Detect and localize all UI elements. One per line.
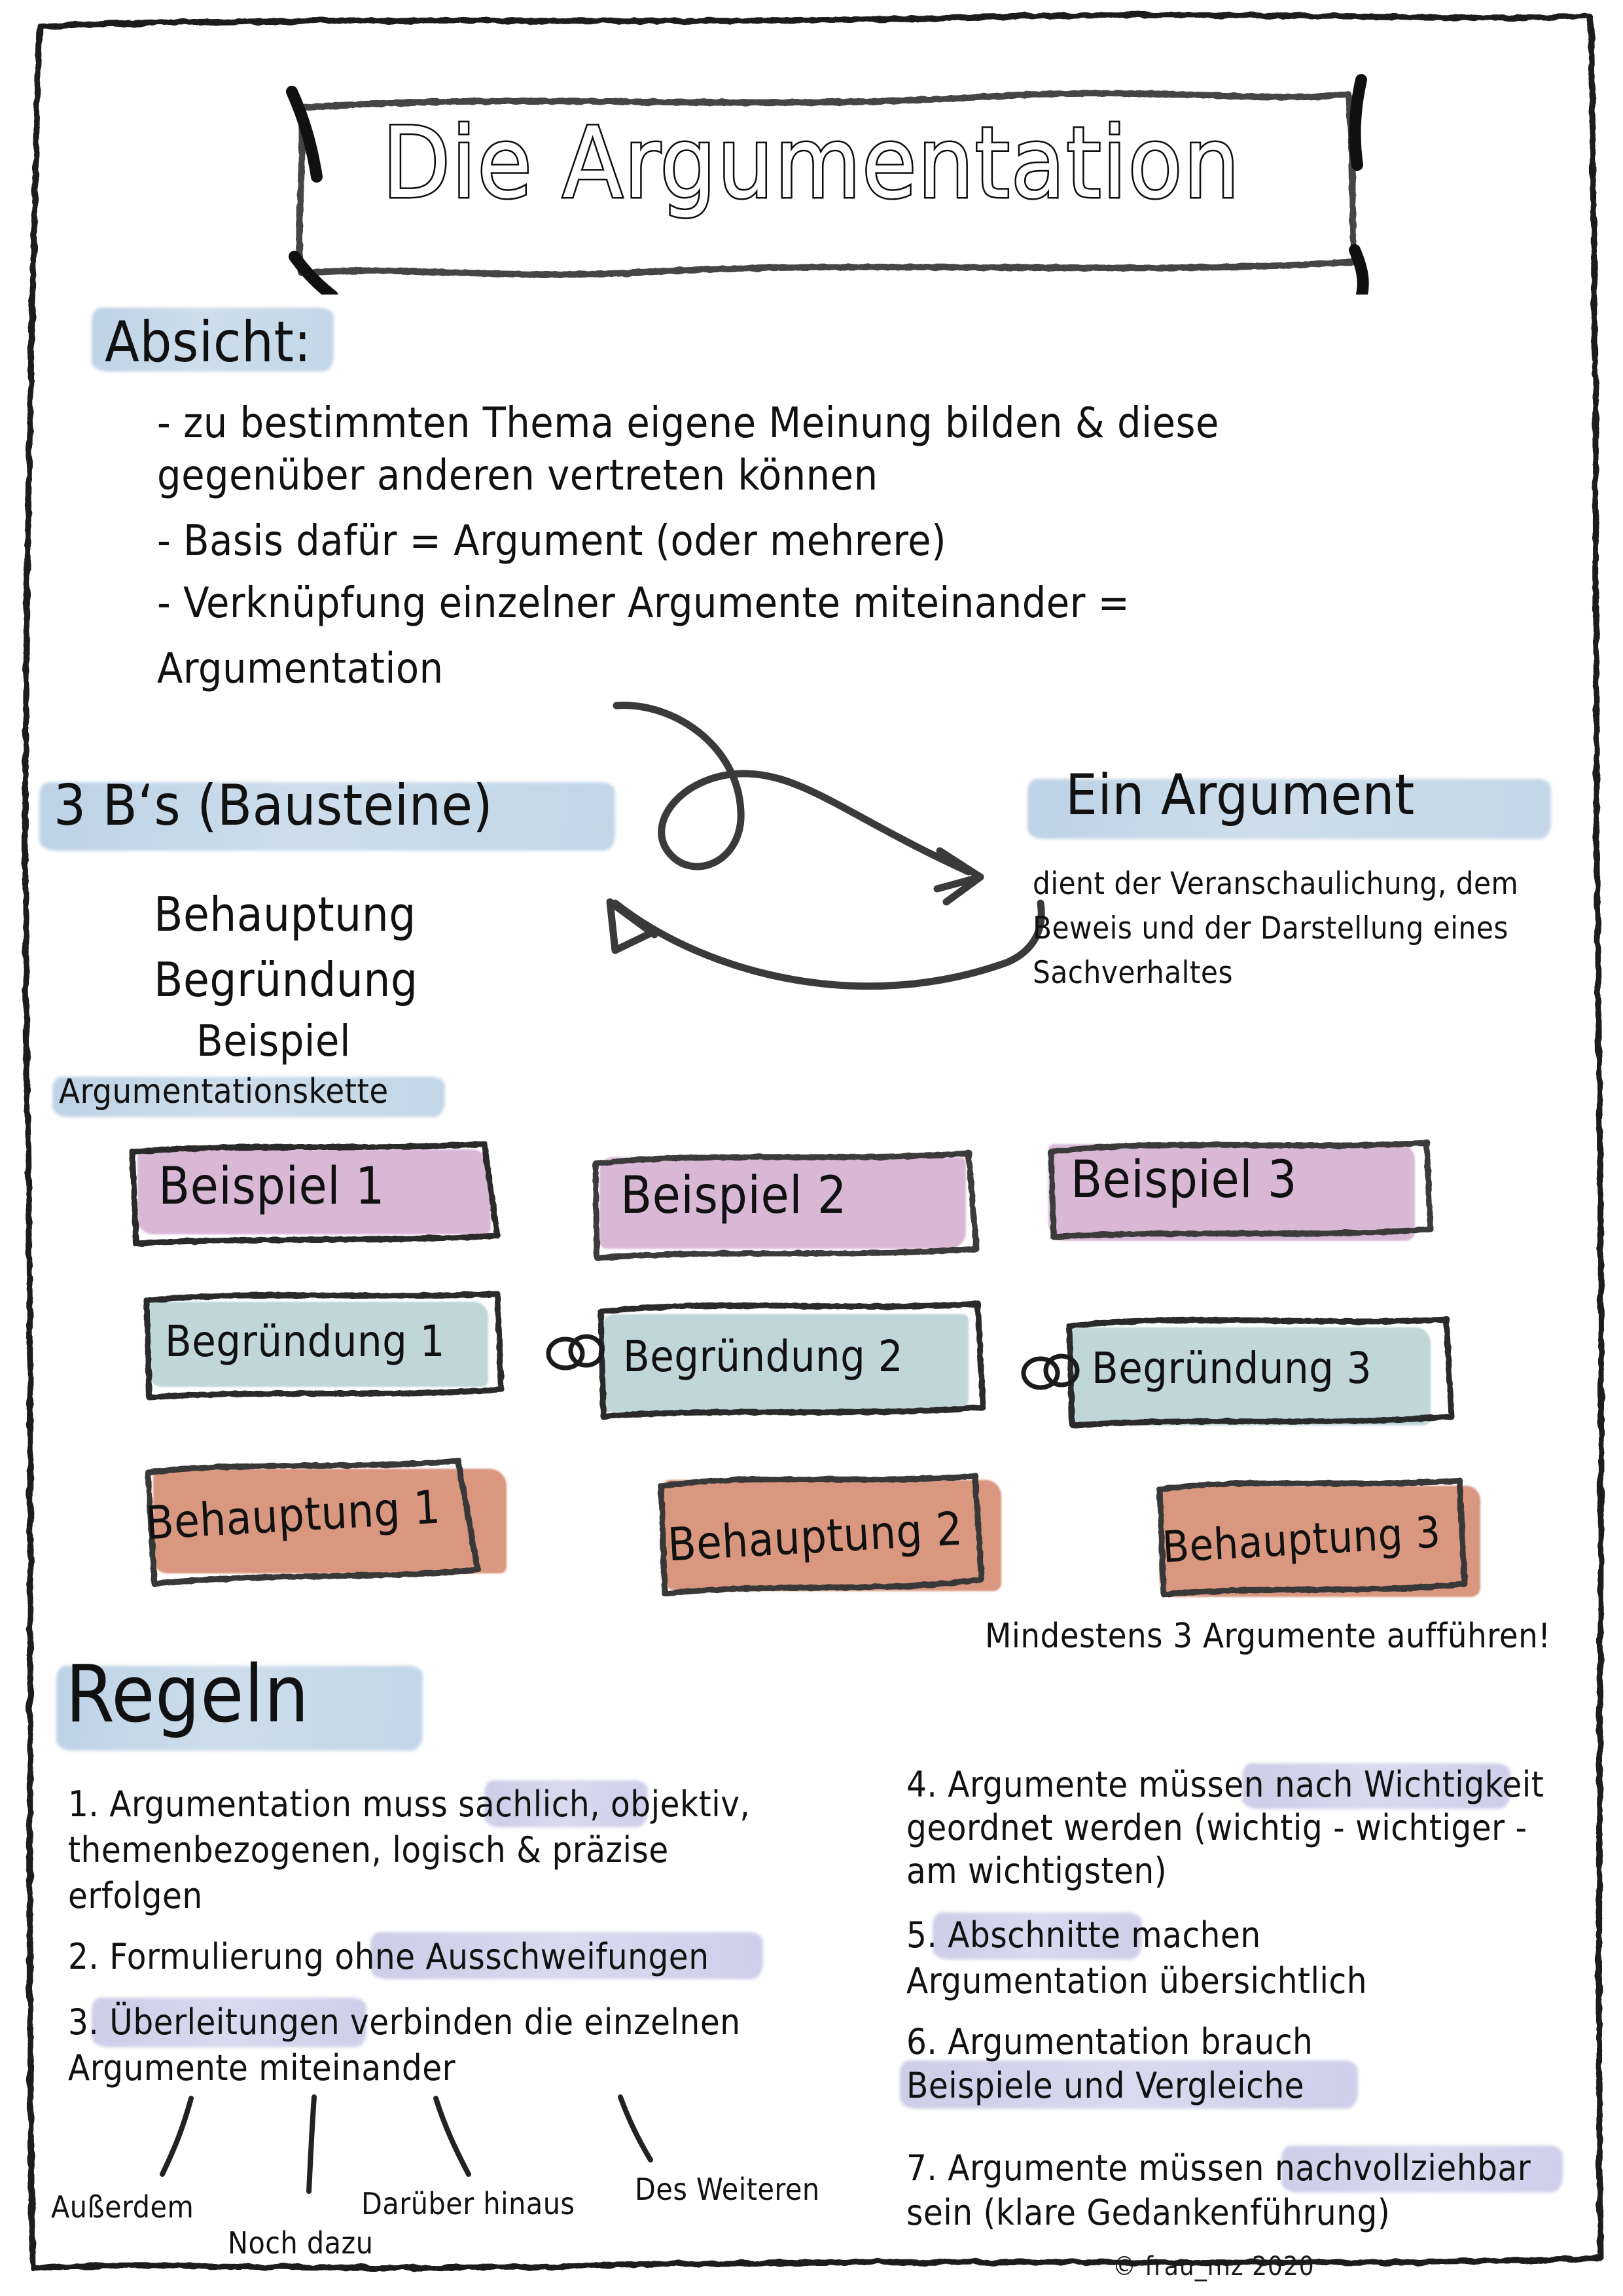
connector-4: Des Weiteren <box>635 2172 820 2207</box>
rule-5-line-2: Argumentation übersichtlich <box>906 1958 1367 2003</box>
bausteine-heading: 3 B‘s (Bausteine) <box>54 778 493 834</box>
card-begruendung-2-label: Begründung 2 <box>623 1335 903 1378</box>
argument-body-line-3: Sachverhaltes <box>1033 954 1233 992</box>
rule-4-line-1: 4. Argumente müssen nach Wichtigkeit <box>906 1762 1544 1807</box>
kette-heading: Argumentationskette <box>59 1072 389 1111</box>
absicht-line-4: - Verknüpfung einzelner Argumente mitein… <box>157 579 1130 628</box>
rule-7-line-2: sein (klare Gedankenführung) <box>906 2190 1390 2235</box>
card-begruendung-1[interactable]: Begründung 1 <box>131 1286 537 1407</box>
rule-6-line-1: 6. Argumentation brauch <box>906 2019 1313 2064</box>
baustein-item-behauptung: Behauptung <box>154 887 416 942</box>
rule-6-line-2: Beispiele und Vergleiche <box>906 2063 1304 2108</box>
absicht-line-3: - Basis dafür = Argument (oder mehrere) <box>157 517 946 566</box>
rule-3-line-2: Argumente miteinander <box>68 2045 455 2090</box>
argument-heading: Ein Argument <box>1065 767 1415 823</box>
card-behauptung-2[interactable]: Behauptung 2 <box>648 1463 1054 1607</box>
baustein-item-begruendung: Begründung <box>154 952 418 1007</box>
argument-body-line-1: dient der Veranschaulichung, dem <box>1033 865 1518 903</box>
card-beispiel-2-label: Beispiel 2 <box>620 1170 847 1221</box>
card-behauptung-1[interactable]: Behauptung 1 <box>131 1446 563 1590</box>
card-beispiel-3[interactable]: Beispiel 3 <box>1034 1132 1453 1250</box>
regeln-heading: Regeln <box>65 1656 310 1734</box>
rule-1-line-1: 1. Argumentation muss sachlich, objektiv… <box>68 1782 750 1827</box>
kette-note: Mindestens 3 Argumente aufführen! <box>985 1617 1551 1656</box>
rule-4-line-3: am wichtigsten) <box>906 1848 1167 1893</box>
absicht-line-5: Argumentation <box>157 645 444 694</box>
rule-1-line-3: erfolgen <box>68 1873 203 1918</box>
connector-2: Noch dazu <box>228 2225 373 2261</box>
baustein-item-beispiel: Beispiel <box>196 1016 351 1066</box>
rule-4-line-2: geordnet werden (wichtig - wichtiger - <box>906 1805 1527 1850</box>
absicht-heading: Absicht: <box>105 314 312 370</box>
rule-2-line-1: 2. Formulierung ohne Ausschweifungen <box>68 1934 709 1979</box>
chain-link-icon-1 <box>544 1329 607 1377</box>
card-begruendung-3[interactable]: Begründung 3 <box>1054 1309 1479 1440</box>
rule-1-line-2: themenbezogenen, logisch & präzise <box>68 1827 669 1873</box>
argument-body-line-2: Beweis und der Darstellung eines <box>1033 910 1508 947</box>
absicht-line-2: gegenüber anderen vertreten können <box>157 452 878 501</box>
rule-7-line-1: 7. Argumente müssen nachvollziehbar <box>906 2145 1531 2191</box>
page-title-text: Die Argumentation <box>281 65 1342 262</box>
card-begruendung-2[interactable]: Begründung 2 <box>582 1295 1014 1426</box>
rule-3-line-1: 3. Überleitungen verbinden die einzelnen <box>68 2000 741 2045</box>
card-beispiel-2[interactable]: Beispiel 2 <box>576 1144 1008 1262</box>
signature: © frau_mz 2020 <box>1113 2251 1315 2282</box>
card-begruendung-3-label: Begründung 3 <box>1092 1347 1372 1390</box>
connector-3: Darüber hinaus <box>361 2186 575 2221</box>
card-beispiel-3-label: Beispiel 3 <box>1071 1155 1297 1206</box>
card-beispiel-1-label: Beispiel 1 <box>158 1161 385 1212</box>
card-begruendung-1-label: Begründung 1 <box>165 1320 445 1363</box>
page-title: Die Argumentation <box>281 65 1342 262</box>
card-beispiel-1[interactable]: Beispiel 1 <box>118 1138 537 1249</box>
chain-link-icon-2 <box>1020 1348 1082 1397</box>
poster-page: Die Argumentation Absicht: - zu bestimmt… <box>0 0 1623 2296</box>
connector-1: Außerdem <box>51 2189 194 2225</box>
card-behauptung-3[interactable]: Behauptung 3 <box>1145 1466 1512 1610</box>
rule-5-line-1: 5. Abschnitte machen <box>906 1912 1261 1958</box>
absicht-line-1: - zu bestimmten Thema eigene Meinung bil… <box>157 399 1219 448</box>
curly-arrow-back-left <box>550 864 1086 1100</box>
